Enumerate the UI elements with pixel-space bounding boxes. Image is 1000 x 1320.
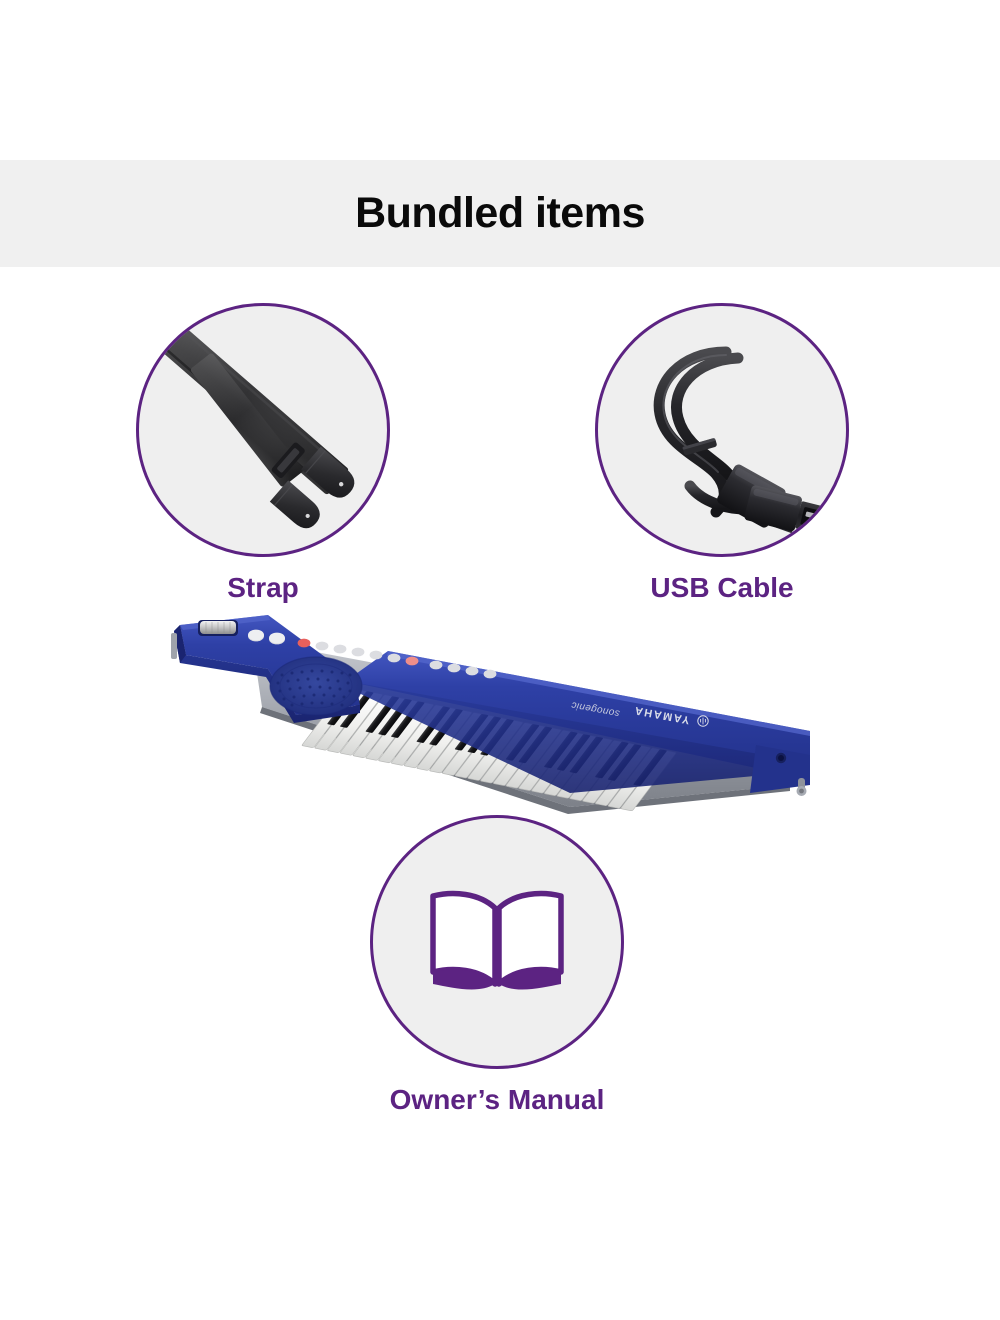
guitar-strap-photo <box>139 306 387 554</box>
bundled-items-header: Bundled items <box>0 160 1000 267</box>
open-book-icon <box>427 884 567 1000</box>
usb-cable-circle <box>595 303 849 557</box>
pitch-wheel <box>198 620 238 636</box>
bundle-item-owners-manual: Owner’s Manual <box>370 815 624 1114</box>
bundle-item-strap: Strap <box>136 303 390 602</box>
keytar-product-photo: YAMAHA sonogenic <box>150 595 830 855</box>
page-title: Bundled items <box>355 192 645 235</box>
bundle-item-usb-cable: USB Cable <box>595 303 849 602</box>
bundle-item-label-owners-manual: Owner’s Manual <box>370 1086 624 1114</box>
speaker-grille <box>270 657 362 715</box>
strap-circle <box>136 303 390 557</box>
usb-cable-photo <box>598 306 846 554</box>
